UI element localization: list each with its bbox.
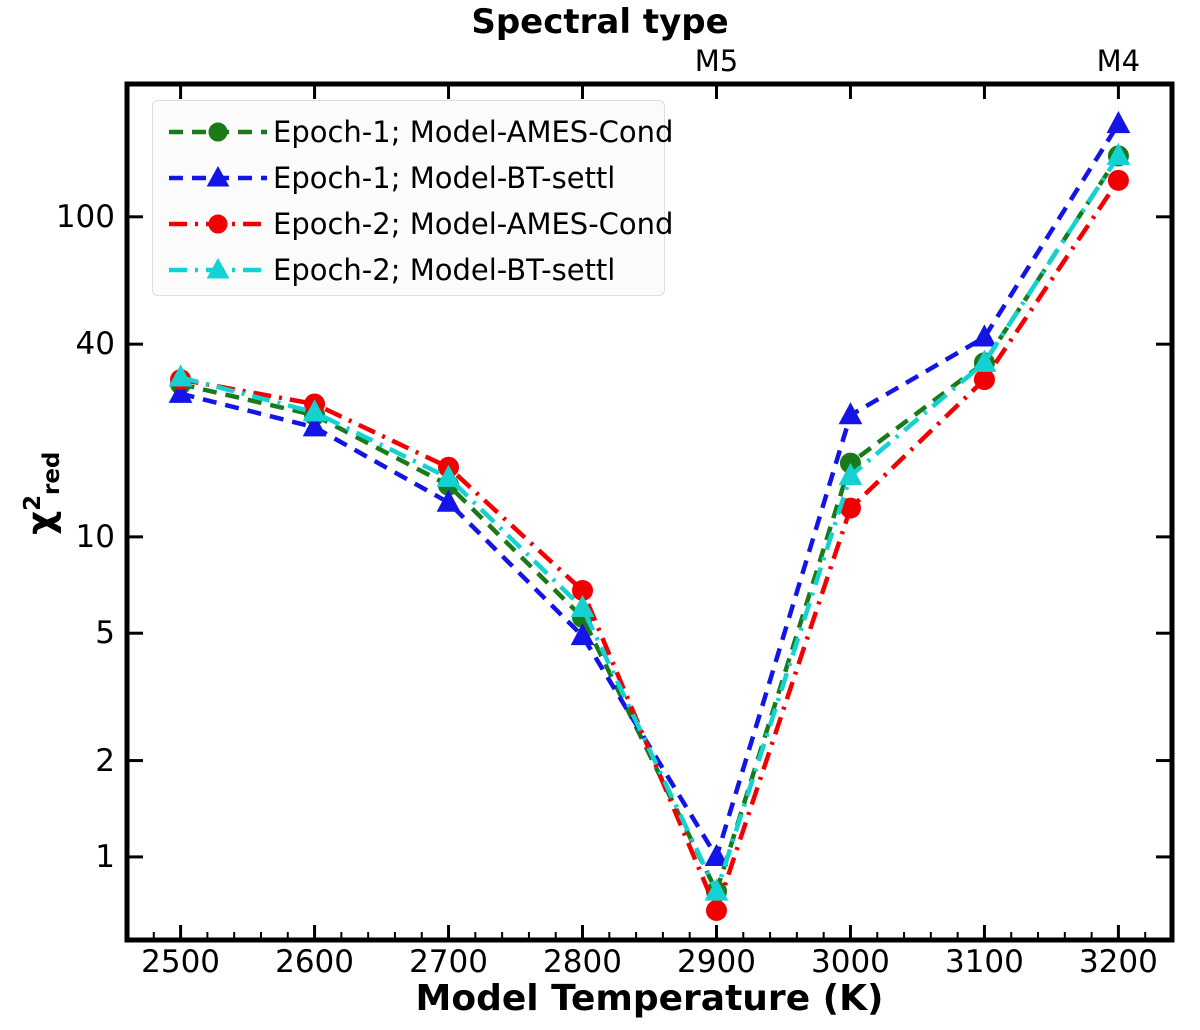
chart-legend[interactable]: Epoch-1; Model-AMES-CondEpoch-1; Model-B…	[152, 100, 665, 296]
data-point-marker	[706, 901, 726, 921]
legend-line-sample	[163, 158, 273, 198]
legend-item[interactable]: Epoch-1; Model-AMES-Cond	[153, 109, 664, 154]
legend-item[interactable]: Epoch-2; Model-AMES-Cond	[153, 201, 664, 246]
legend-line-sample	[163, 112, 273, 152]
data-point-marker	[1108, 170, 1128, 190]
legend-line-sample	[163, 250, 273, 290]
data-point-marker	[1107, 112, 1129, 133]
chart-figure: Spectral type M5M4 χ2red Model Temperatu…	[0, 0, 1200, 1030]
legend-item-label: Epoch-1; Model-AMES-Cond	[273, 115, 673, 149]
legend-item[interactable]: Epoch-2; Model-BT-settl	[153, 247, 664, 292]
legend-item-label: Epoch-1; Model-BT-settl	[273, 161, 615, 195]
legend-line-sample	[163, 204, 273, 244]
legend-item-label: Epoch-2; Model-BT-settl	[273, 253, 615, 287]
data-point-marker	[974, 370, 994, 390]
legend-item[interactable]: Epoch-1; Model-BT-settl	[153, 155, 664, 200]
legend-item-label: Epoch-2; Model-AMES-Cond	[273, 207, 673, 241]
data-point-marker	[839, 403, 861, 424]
